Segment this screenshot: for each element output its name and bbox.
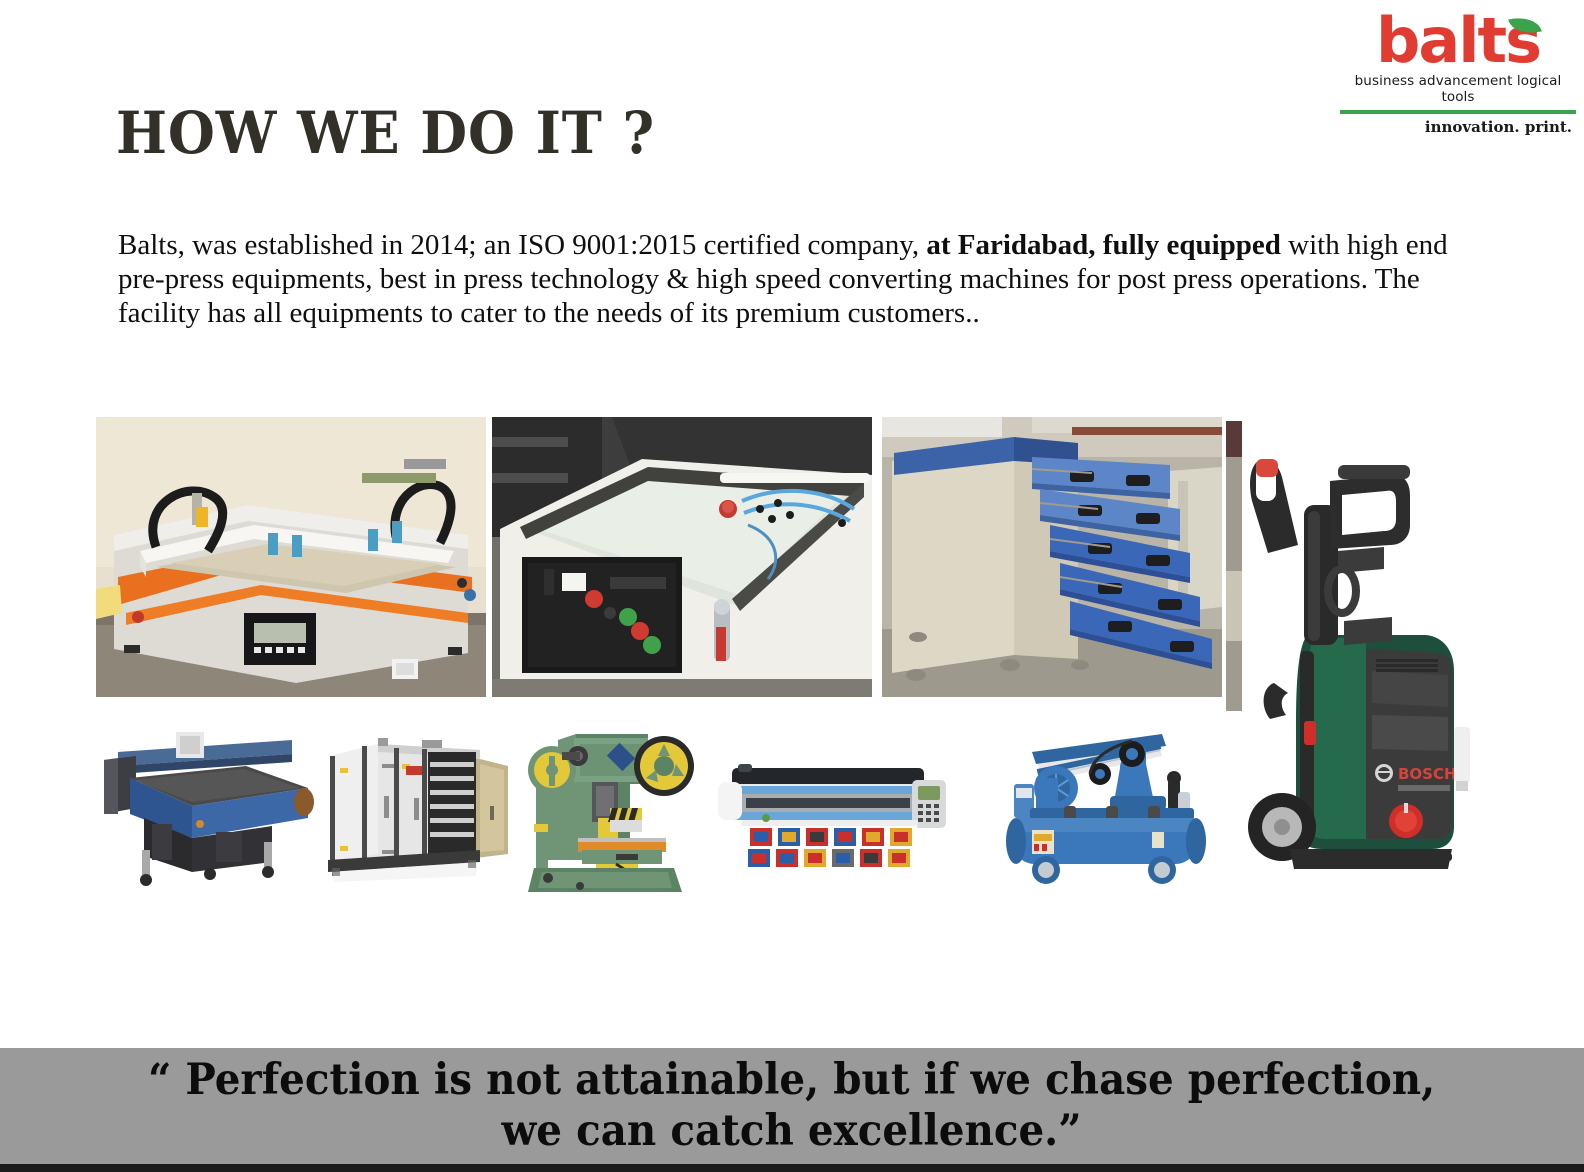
logo-tagline: business advancement logical tools [1340, 73, 1576, 105]
quote-line-1: “ Perfection is not attainable, but if w… [148, 1055, 1435, 1106]
intro-bold-phrase: at Faridabad, fully equipped [926, 229, 1281, 261]
photo-screen-printing-machine [96, 417, 486, 697]
photo-vinyl-cutter-plotter [706, 736, 954, 876]
photo-uv-exposure-unit [492, 417, 872, 697]
photo-power-press [518, 720, 700, 896]
bosch-brand-label: BOSCH [1398, 765, 1457, 783]
logo-strapline: innovation. print. [1340, 118, 1576, 136]
photo-air-compressor [1002, 722, 1212, 888]
footer-bar [0, 1164, 1584, 1172]
photo-industrial-drying-oven [318, 722, 518, 888]
photo-uv-flatbed-printer [96, 722, 314, 888]
photo-pressure-washer: BOSCH [1226, 421, 1476, 885]
intro-part-1: Balts, was established in 2014; an ISO 9… [118, 229, 926, 261]
company-logo: balts business advancement logical tools… [1340, 8, 1576, 136]
quote-banner: “ Perfection is not attainable, but if w… [0, 1048, 1584, 1164]
logo-wordmark: balts [1340, 8, 1576, 71]
page-title: HOW WE DO IT ? [116, 104, 655, 162]
quote-line-2: we can catch excellence.” [502, 1106, 1082, 1157]
logo-wordmark-text: balts [1376, 4, 1540, 77]
logo-divider [1340, 110, 1576, 114]
intro-paragraph: Balts, was established in 2014; an ISO 9… [118, 228, 1448, 331]
photo-screen-drying-rack [882, 417, 1222, 697]
slide-canvas: balts business advancement logical tools… [0, 0, 1584, 1172]
